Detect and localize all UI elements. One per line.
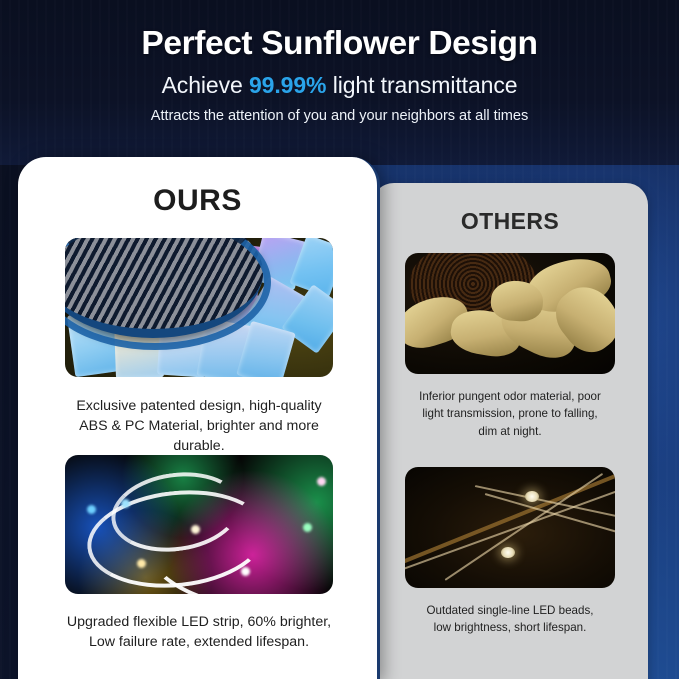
others-card: OTHERS Inferior pungent odor material, p… [372,183,648,679]
caption-line: dim at night. [398,423,622,440]
led-bead [121,499,130,508]
dull-yellow-sunflower-photo [405,253,615,374]
caption-line: light transmission, prone to falling, [398,405,622,422]
single-line-led-beads-photo [405,467,615,588]
caption-line: ABS & PC Material, brighter and more [42,416,356,436]
subtitle-prefix: Achieve [162,72,249,98]
led-wire [405,486,615,573]
caption-line: Outdated single-line LED beads, [398,602,622,619]
rgb-led-strip-photo [65,455,333,594]
subtitle: Achieve 99.99% light transmittance [0,72,679,99]
ours-caption-1: Exclusive patented design, high-quality … [28,396,370,456]
caption-line: durable. [42,436,356,456]
ours-heading: OURS [18,157,377,218]
iridescent-crystal-sunflower-photo [65,238,333,377]
led-wire [445,473,603,581]
led-bead [191,525,200,534]
led-bead [501,547,515,558]
ours-card: OURS Exclusive patented design, high-qua… [18,157,380,679]
led-bead [317,477,326,486]
led-bead [525,491,539,502]
caption-line: Inferior pungent odor material, poor [398,388,622,405]
caption-line: Upgraded flexible LED strip, 60% brighte… [42,612,356,632]
led-bead [241,567,250,576]
others-heading: OTHERS [372,183,648,235]
header: Perfect Sunflower Design Achieve 99.99% … [0,0,679,160]
led-bead [137,559,146,568]
subtitle-suffix: light transmittance [326,72,517,98]
page-title: Perfect Sunflower Design [0,25,679,63]
others-caption-1: Inferior pungent odor material, poor lig… [386,388,634,440]
caption-line: Low failure rate, extended lifespan. [42,632,356,652]
others-caption-2: Outdated single-line LED beads, low brig… [386,602,634,637]
led-bead [87,505,96,514]
transmittance-value: 99.99% [249,72,326,98]
ours-caption-2: Upgraded flexible LED strip, 60% brighte… [28,612,370,652]
led-bead [303,523,312,532]
caption-line: Exclusive patented design, high-quality [42,396,356,416]
caption-line: low brightness, short lifespan. [398,619,622,636]
tagline: Attracts the attention of you and your n… [0,108,679,124]
